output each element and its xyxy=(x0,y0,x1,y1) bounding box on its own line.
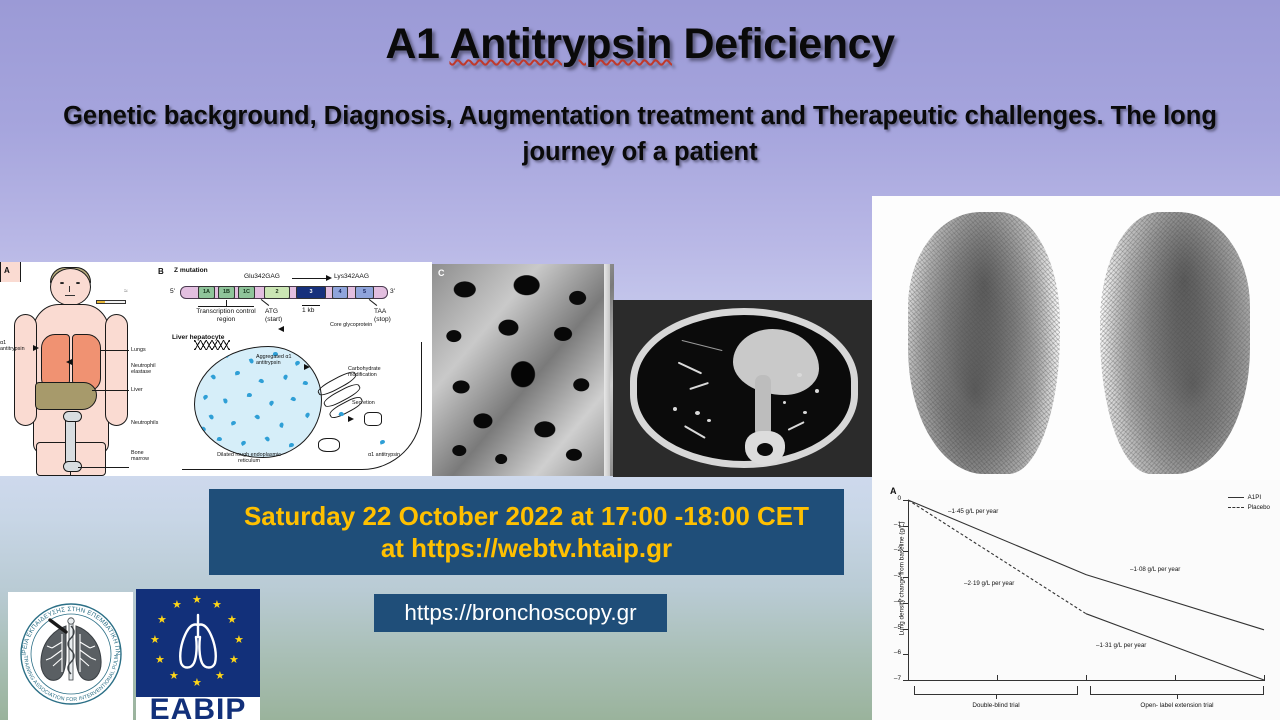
leader-liver xyxy=(92,390,129,391)
organ-bone-marrow xyxy=(65,414,76,469)
label-a1-antitrypsin: α1 antitrypsin xyxy=(0,340,31,353)
cigarette-icon xyxy=(96,300,126,304)
eabip-lungs-icon xyxy=(169,611,227,675)
leader-atg xyxy=(261,299,269,306)
hellenic-training-association-logo: ΕΛΛΗΝΙΚΗ ΕΤΑΙΡΕΙΑ ΕΚΠΑΙΔΕΥΣΗΣ ΣΤΗΝ ΕΠΕΜΒ… xyxy=(8,592,133,720)
leader-lungs xyxy=(101,350,129,351)
arrow-core-glycoprotein xyxy=(278,326,284,332)
figure-panel-c-emphysema: C xyxy=(432,264,614,476)
emphysema-pleural-edge xyxy=(604,264,610,476)
label-atg-start: ATG (start) xyxy=(265,308,289,324)
exon-1c: 1C xyxy=(238,286,255,299)
exon-2: 2 xyxy=(264,286,290,299)
presentation-slide: A1 Antitrypsin Deficiency Genetic backgr… xyxy=(0,0,1280,720)
panel-b-heading: Z mutation xyxy=(174,267,208,275)
chart-bracket-double-blind xyxy=(914,686,1078,695)
arrow-secretion xyxy=(348,416,354,422)
label-core-glycoprotein: Core glycoprotein xyxy=(330,322,372,328)
exon-1b: 1B xyxy=(218,286,235,299)
leader-bone-marrow xyxy=(78,467,129,468)
chart-series-layer xyxy=(872,480,1280,720)
exon-5: 5 xyxy=(355,286,374,299)
face-eye-right xyxy=(76,282,80,284)
label-carbohydrate-modification: Carbohydrate modification xyxy=(348,366,388,379)
figure-panel-a: A ≈ α1 antitry xyxy=(0,262,152,476)
arrow-a1-antitrypsin xyxy=(33,345,39,351)
figure-panel-b: B Z mutation Glu342GAG Lys342AAG 5' 3' 1… xyxy=(152,262,432,476)
figure-panel-ab: A ≈ α1 antitry xyxy=(0,262,432,476)
chart-bracket-label-double-blind: Double-blind trial xyxy=(914,702,1078,709)
chart-legend-item-a1pi: A1PI xyxy=(1228,494,1270,501)
panel-b-letter: B xyxy=(158,267,164,276)
label-liver: Liver xyxy=(131,387,143,393)
body-head xyxy=(50,268,91,306)
exon-4: 4 xyxy=(332,286,348,299)
label-lungs: Lungs xyxy=(131,347,146,353)
chart-legend: A1PI Placebo xyxy=(1228,494,1270,514)
vesicle-2 xyxy=(318,438,340,452)
smoke-icon: ≈ xyxy=(124,288,128,295)
legend-line-solid-icon xyxy=(1228,497,1244,498)
scale-bar-label: 1 kb xyxy=(302,307,314,315)
ct-vertebra xyxy=(745,431,785,465)
perfusion-lung-left xyxy=(908,212,1060,474)
website-url-text: https://bronchoscopy.gr xyxy=(404,602,636,625)
five-prime-label: 5' xyxy=(170,288,175,296)
event-date-line1: Saturday 22 October 2022 at 17:00 -18:00… xyxy=(244,501,809,531)
chart-annotation-a1pi-dbt: –1·45 g/L per year xyxy=(948,508,998,515)
legend-line-dashed-icon xyxy=(1228,507,1244,508)
organ-liver xyxy=(35,382,97,410)
title-text-pre: A1 xyxy=(385,20,449,68)
figure-lung-perfusion-scan: A xyxy=(872,196,1280,496)
chart-legend-label-placebo: Placebo xyxy=(1248,504,1270,511)
label-transcription-control-region: Transcription control region xyxy=(188,308,264,324)
event-date-banner: Saturday 22 October 2022 at 17:00 -18:00… xyxy=(209,489,844,575)
event-date-line2: at https://webtv.htaip.gr xyxy=(381,533,672,563)
label-aggregated-a1-antitrypsin: Aggregated α1 antitrypsin xyxy=(256,354,302,367)
three-prime-label: 3' xyxy=(390,288,395,296)
chart-legend-item-placebo: Placebo xyxy=(1228,504,1270,511)
chart-bracket-open-label xyxy=(1090,686,1264,695)
er-ribosomes xyxy=(194,340,230,350)
mutation-arrow-line xyxy=(292,278,328,279)
emphysema-texture xyxy=(432,264,614,476)
face-nose xyxy=(69,286,70,292)
label-neutrophil-elastase: Neutrophil elastase xyxy=(131,363,153,376)
eabip-eu-flag-background: ★ ★ ★ ★ ★ ★ ★ ★ ★ ★ ★ ★ xyxy=(136,589,260,697)
leader-transcription-bar xyxy=(198,306,254,307)
body-arm-left xyxy=(14,314,37,426)
leader-taa xyxy=(369,299,377,306)
mutation-from-label: Glu342GAG xyxy=(244,273,280,281)
chart-annotation-placebo-dbt: –2·19 g/L per year xyxy=(964,580,1014,587)
exon-1a: 1A xyxy=(198,286,215,299)
chart-legend-label-a1pi: A1PI xyxy=(1248,494,1261,501)
face-mouth xyxy=(65,295,75,296)
figure-chest-ct-scan xyxy=(613,300,875,477)
eabip-logo: ★ ★ ★ ★ ★ ★ ★ ★ ★ ★ ★ ★ EABIP xyxy=(136,589,260,720)
figure-lung-density-chart: A Lung density change from baseline (g/L… xyxy=(872,480,1280,720)
hellenic-logo-lungs-icon xyxy=(32,616,110,690)
label-taa-stop: TAA (stop) xyxy=(374,308,398,324)
arrow-lungs xyxy=(66,359,72,365)
perfusion-lung-right xyxy=(1100,212,1250,474)
chart-line-placebo-dashed xyxy=(908,500,1086,614)
chart-annotation-a1pi-ole: –1·08 g/L per year xyxy=(1130,566,1180,573)
chart-annotation-placebo-ole: –1·31 g/L per year xyxy=(1096,642,1146,649)
label-a1-antitrypsin-2: α1 antitrypsin xyxy=(368,452,400,458)
mutation-arrow-head xyxy=(326,275,332,281)
chart-line-a1pi xyxy=(908,500,1264,630)
label-bone-marrow: Bone marrow xyxy=(131,450,152,463)
page-title: A1 Antitrypsin Deficiency xyxy=(0,20,1280,69)
ct-thorax-outline xyxy=(630,308,858,468)
title-text-misspelled: Antitrypsin xyxy=(449,20,672,68)
ct-mediastinum xyxy=(733,329,819,395)
face-eye-left xyxy=(60,282,64,284)
page-subtitle: Genetic background, Diagnosis, Augmentat… xyxy=(26,98,1254,170)
eabip-wordmark: EABIP xyxy=(136,695,260,720)
chart-bracket-label-open-label: Open- label extension trial xyxy=(1090,702,1264,709)
ct-vessel-trunk xyxy=(755,375,771,437)
panel-c-letter: C xyxy=(438,268,445,278)
title-text-post: Deficiency xyxy=(672,20,895,68)
panel-a-letter: A xyxy=(4,266,10,275)
website-url-banner[interactable]: https://bronchoscopy.gr xyxy=(374,594,667,632)
label-secretion: Secretion xyxy=(352,400,375,406)
body-arm-right xyxy=(105,314,128,426)
label-dilated-rough-er: Dilated rough endoplasmic reticulum xyxy=(212,452,286,465)
exon-3: 3 xyxy=(296,286,326,299)
secretory-vesicle xyxy=(364,412,382,426)
arrow-aggregated xyxy=(304,364,310,370)
mutation-to-label: Lys342AAG xyxy=(334,273,369,281)
